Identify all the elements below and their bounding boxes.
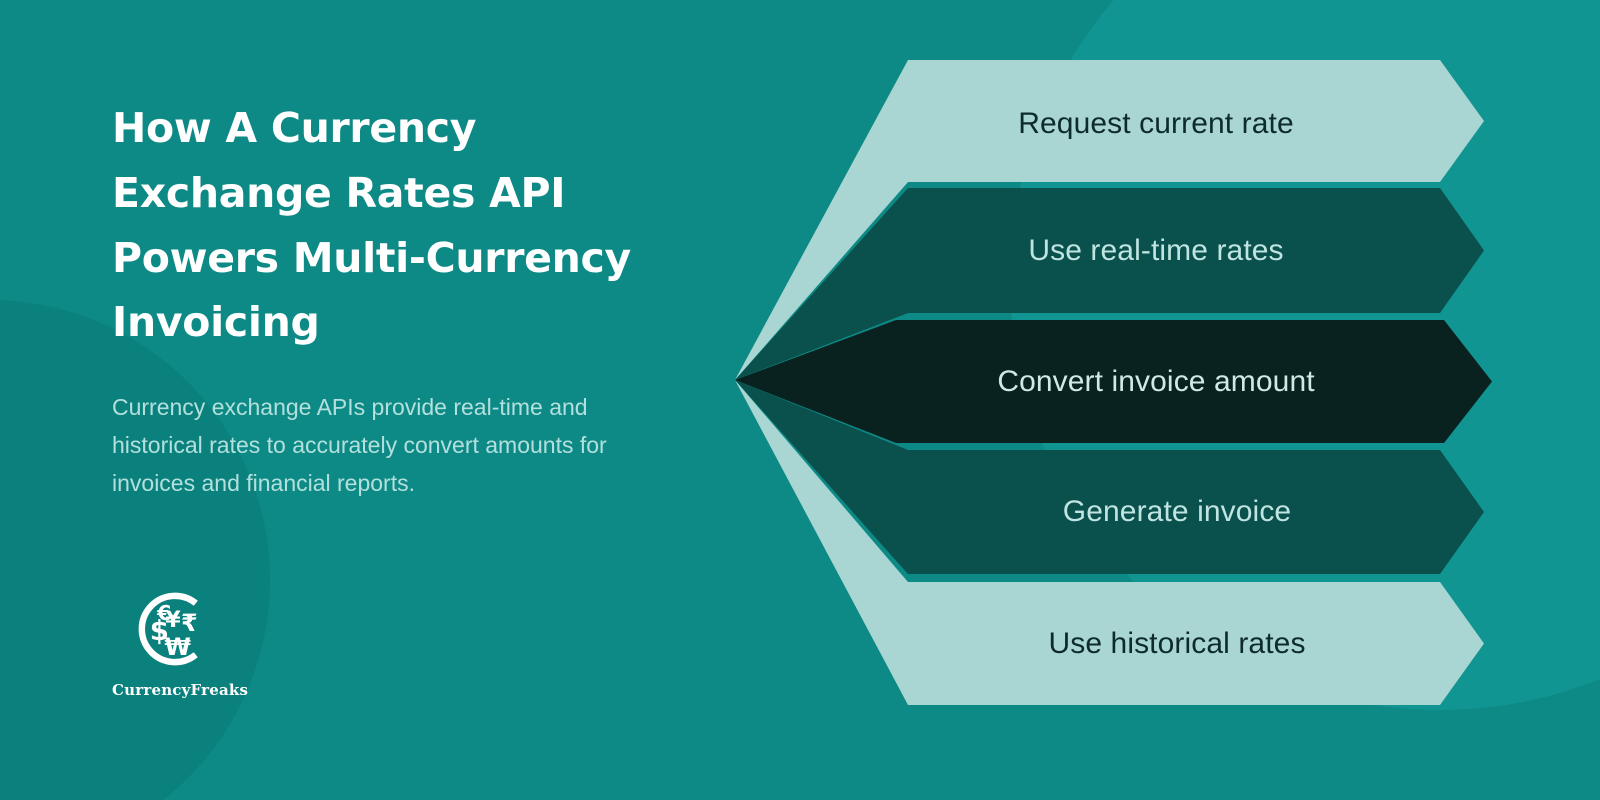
step-convert-invoice-amount[interactable] — [735, 320, 1492, 443]
infographic-canvas: How A Currency Exchange Rates API Powers… — [0, 0, 1600, 800]
converging-arrow-diagram — [0, 0, 1600, 800]
